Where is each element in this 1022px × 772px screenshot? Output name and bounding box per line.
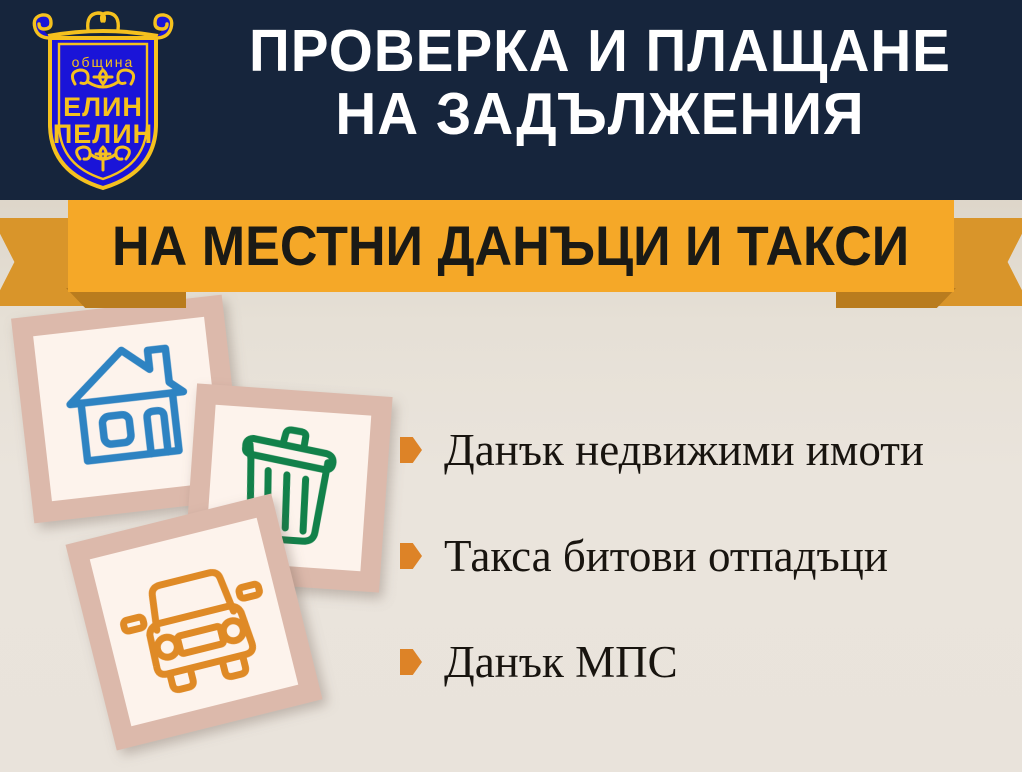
page-title-line-1: ПРОВЕРКА И ПЛАЩАНЕ bbox=[211, 20, 989, 83]
pentagon-arrow-bullet-icon bbox=[400, 649, 422, 675]
list-item-label: Такса битови отпадъци bbox=[444, 531, 888, 581]
page-title-line-2: НА ЗАДЪЛЖЕНИЯ bbox=[211, 83, 989, 146]
poster-canvas: община ЕЛИН ПЕЛИН bbox=[0, 0, 1022, 772]
header-band: община ЕЛИН ПЕЛИН bbox=[0, 0, 1022, 200]
svg-text:ПЕЛИН: ПЕЛИН bbox=[53, 119, 153, 149]
ribbon-panel: НА МЕСТНИ ДАНЪЦИ И ТАКСИ bbox=[68, 200, 954, 292]
tax-type-list: Данък недвижими имоти Такса битови отпад… bbox=[400, 425, 1015, 743]
pentagon-arrow-bullet-icon bbox=[400, 437, 422, 463]
page-title: ПРОВЕРКА И ПЛАЩАНЕ НА ЗАДЪЛЖЕНИЯ bbox=[195, 20, 1005, 146]
ribbon-label: НА МЕСТНИ ДАНЪЦИ И ТАКСИ bbox=[112, 217, 909, 275]
list-item[interactable]: Такса битови отпадъци bbox=[400, 531, 1015, 581]
list-item[interactable]: Данък МПС bbox=[400, 637, 1015, 687]
list-item[interactable]: Данък недвижими имоти bbox=[400, 425, 1015, 475]
svg-text:община: община bbox=[72, 54, 135, 70]
stamp-group bbox=[0, 290, 420, 772]
svg-text:ЕЛИН: ЕЛИН bbox=[63, 92, 143, 122]
list-item-label: Данък недвижими имоти bbox=[444, 425, 924, 475]
elin-pelin-coat-of-arms-icon: община ЕЛИН ПЕЛИН bbox=[18, 4, 188, 194]
pentagon-arrow-bullet-icon bbox=[400, 543, 422, 569]
list-item-label: Данък МПС bbox=[444, 637, 678, 687]
subtitle-ribbon: НА МЕСТНИ ДАНЪЦИ И ТАКСИ bbox=[0, 200, 1022, 308]
